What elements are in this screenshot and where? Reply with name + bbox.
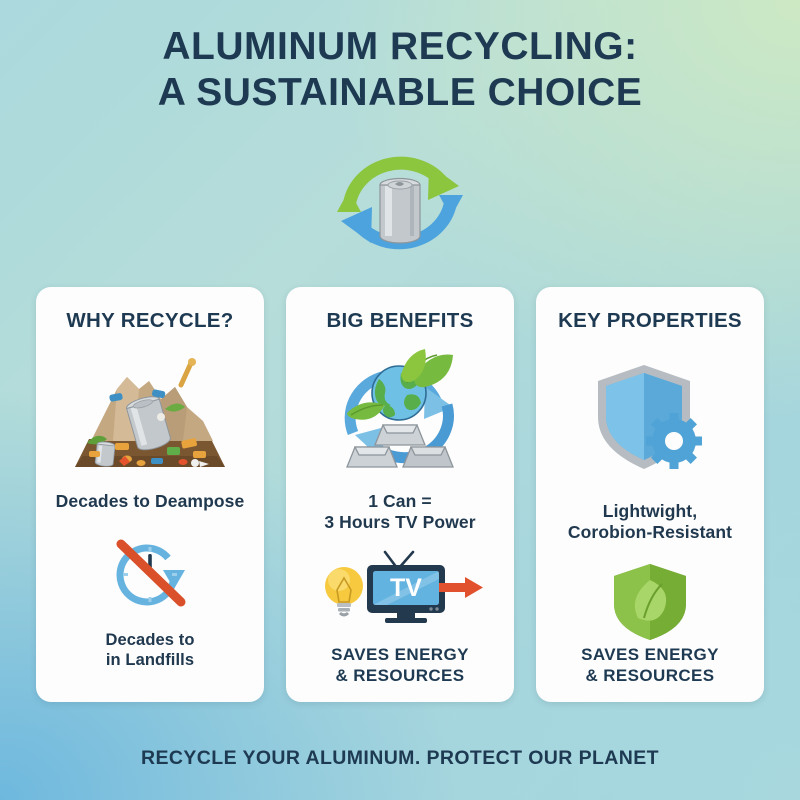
- card-3-sub-caption-line-1: SAVES ENERGY: [581, 644, 719, 665]
- lightbulb-tv-power-arrow-icon: TV: [315, 550, 485, 626]
- green-shield-with-leaf-icon: [608, 562, 692, 642]
- card-big-benefits[interactable]: BIG BENEFITS: [286, 287, 514, 702]
- card-1-caption: Decades to Deampose: [56, 491, 245, 512]
- blue-shield-with-gear-icon: [592, 359, 708, 475]
- card-3-sub-caption: SAVES ENERGY & RESOURCES: [581, 644, 719, 687]
- card-1-sub-caption-line-1: Decades to: [105, 630, 194, 650]
- recycling-arrows-with-aluminum-can-icon: [325, 142, 475, 264]
- card-1-sub-caption-line-2: in Landfills: [105, 650, 194, 670]
- card-title-big-benefits: BIG BENEFITS: [326, 309, 473, 333]
- cards-row: WHY RECYCLE?: [36, 287, 764, 702]
- tv-screen-label: TV: [390, 574, 422, 602]
- card-why-recycle[interactable]: WHY RECYCLE?: [36, 287, 264, 702]
- card-3-sub-caption-line-2: & RESOURCES: [581, 665, 719, 686]
- card-2-sub-caption: SAVES ENERGY & RESOURCES: [331, 644, 469, 687]
- landfill-trash-pile-icon: [65, 355, 235, 475]
- title-line-2: A SUSTAINABLE CHOICE: [0, 70, 800, 116]
- no-time-clock-slashed-icon: [105, 532, 195, 612]
- card-key-properties[interactable]: KEY PROPERTIES: [536, 287, 764, 702]
- card-3-caption-line-1: Lightwight,: [568, 501, 732, 522]
- card-title-key-properties: KEY PROPERTIES: [558, 309, 742, 333]
- card-2-caption: 1 Can = 3 Hours TV Power: [324, 491, 475, 534]
- card-2-sub-caption-line-2: & RESOURCES: [331, 665, 469, 686]
- card-1-sub-caption: Decades to in Landfills: [105, 630, 194, 670]
- card-3-caption-line-2: Corobion-Resistant: [568, 522, 732, 543]
- infographic-page: ALUMINUM RECYCLING: A SUSTAINABLE CHOICE: [0, 0, 800, 800]
- card-2-sub-caption-line-1: SAVES ENERGY: [331, 644, 469, 665]
- page-title: ALUMINUM RECYCLING: A SUSTAINABLE CHOICE: [0, 24, 800, 115]
- card-3-caption: Lightwight, Corobion-Resistant: [568, 501, 732, 544]
- card-2-caption-line-1: 1 Can =: [324, 491, 475, 512]
- footer-tagline: RECYCLE YOUR ALUMINUM. PROTECT OUR PLANE…: [0, 747, 800, 770]
- card-2-caption-line-2: 3 Hours TV Power: [324, 512, 475, 533]
- globe-leaves-aluminum-ingots-icon: [325, 347, 475, 477]
- card-title-why-recycle: WHY RECYCLE?: [66, 309, 233, 333]
- title-line-1: ALUMINUM RECYCLING:: [0, 24, 800, 70]
